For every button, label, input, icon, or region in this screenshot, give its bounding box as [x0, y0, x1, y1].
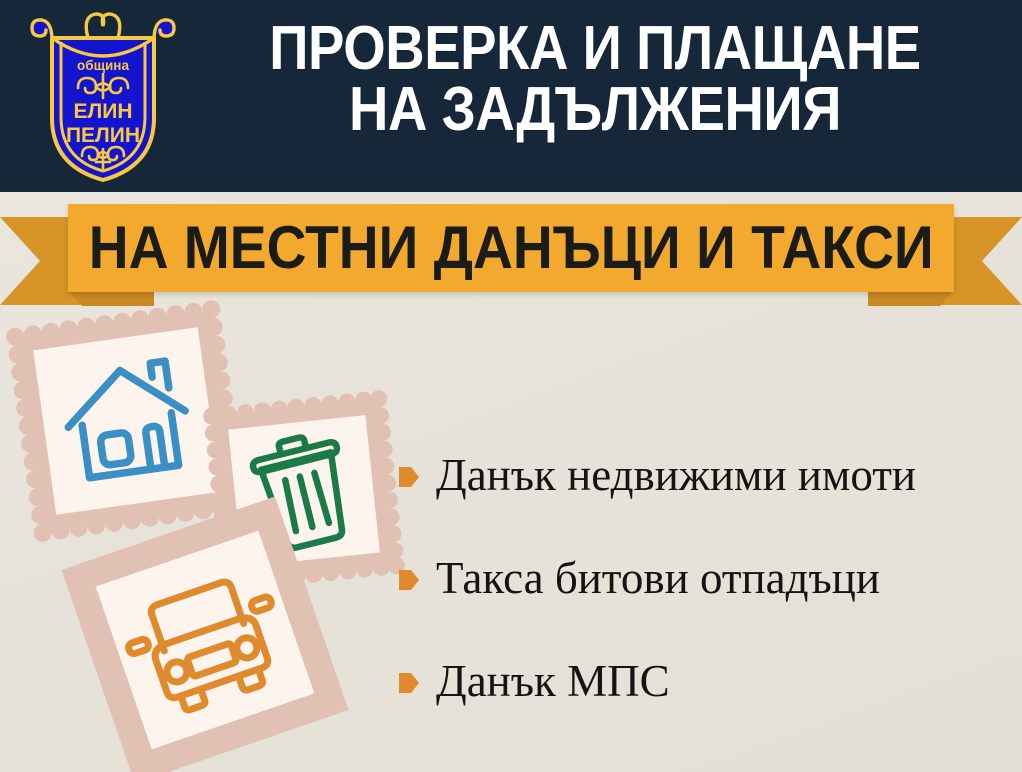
ribbon-body: НА МЕСТНИ ДАНЪЦИ И ТАКСИ: [68, 204, 954, 292]
crest-line-3: ПЕЛИН: [66, 124, 140, 147]
ribbon-tail-left: [0, 217, 132, 305]
ribbon-fold-right: [868, 290, 954, 306]
arrow-bullet-icon: [398, 464, 420, 490]
crest-line-2: ЕЛИН: [73, 100, 132, 123]
ribbon-tail-right: [890, 217, 1022, 305]
list-item[interactable]: Данък МПС: [398, 630, 1008, 733]
page-title: ПРОВЕРКА И ПЛАЩАНЕ НА ЗАДЪЛЖЕНИЯ: [230, 18, 960, 141]
coat-of-arms-shield-icon: община ЕЛИН ПЕЛИН: [30, 8, 176, 184]
ribbon-label: НА МЕСТНИ ДАНЪЦИ И ТАКСИ: [89, 218, 934, 278]
header-banner: община ЕЛИН ПЕЛИН: [0, 0, 1022, 192]
list-item-label: Данък недвижими имоти: [436, 452, 916, 499]
list-item-label: Такса битови отпадъци: [436, 555, 880, 602]
arrow-bullet-icon: [398, 567, 420, 593]
list-item[interactable]: Данък недвижими имоти: [398, 424, 1008, 527]
crest-line-1: община: [77, 58, 129, 73]
ribbon-fold-left: [68, 290, 154, 306]
page-title-line-2: НА ЗАДЪЛЖЕНИЯ: [230, 79, 960, 140]
page-title-line-1: ПРОВЕРКА И ПЛАЩАНЕ: [230, 18, 960, 79]
list-item[interactable]: Такса битови отпадъци: [398, 527, 1008, 630]
poster-canvas: община ЕЛИН ПЕЛИН: [0, 0, 1022, 772]
list-item-label: Данък МПС: [436, 658, 670, 705]
subtitle-ribbon: НА МЕСТНИ ДАНЪЦИ И ТАКСИ: [0, 190, 1022, 316]
arrow-bullet-icon: [398, 670, 420, 696]
tax-types-list: Данък недвижими имоти Такса битови отпад…: [398, 424, 1008, 733]
